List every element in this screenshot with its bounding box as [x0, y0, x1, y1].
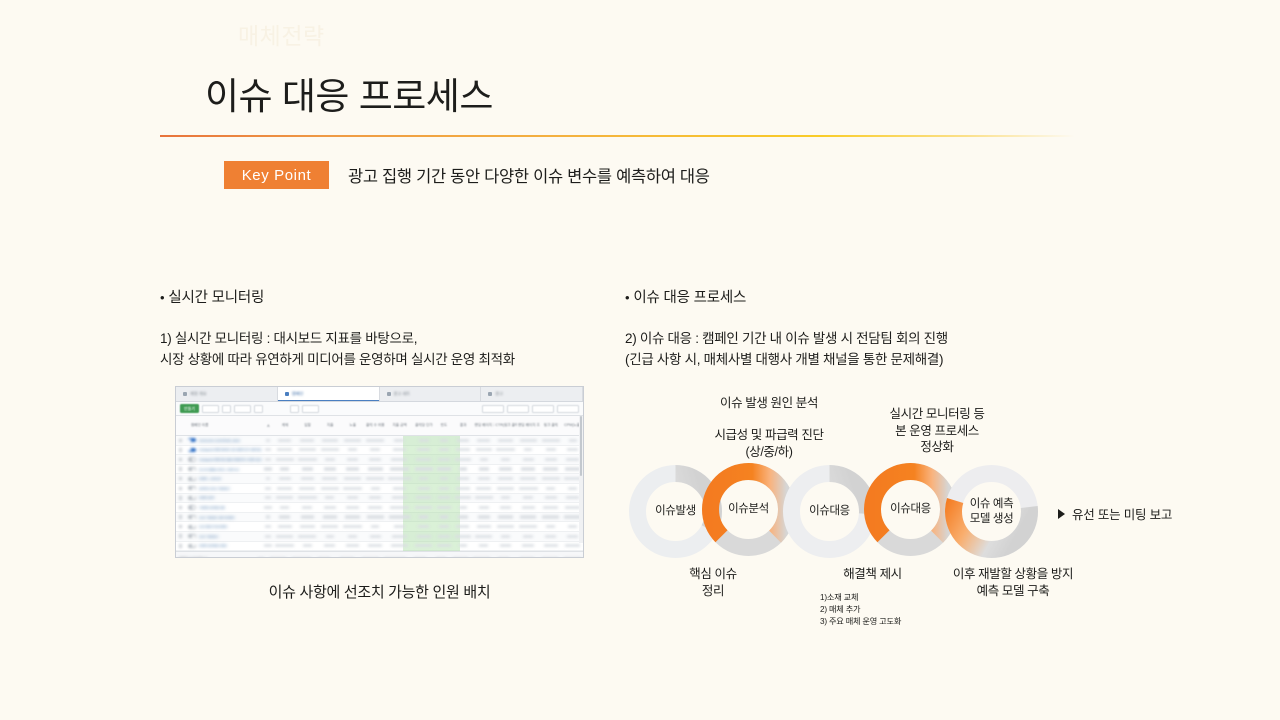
key-point-badge: Key Point — [224, 161, 329, 189]
table-cell — [296, 544, 319, 547]
campaign-name-text: 검색리스트A 기본광고 — [199, 486, 230, 491]
table-cell — [452, 487, 473, 490]
footer-cell — [432, 557, 450, 558]
campaign-name-cell[interactable]: Instagram전환 월고클인전환전자 브랜드광고 전소개용 기... — [185, 457, 263, 462]
left-heading-text: 실시간 모니터링 — [168, 286, 264, 307]
table-cell — [386, 506, 412, 509]
tab-icon — [183, 392, 187, 396]
table-cell — [517, 458, 540, 461]
campaign-name-cell[interactable]: 신규 기본광고 통기브랜드 — [185, 515, 263, 520]
toolbar-delete-button[interactable] — [254, 405, 263, 413]
table-cell — [341, 448, 364, 451]
table-cell — [364, 467, 387, 470]
table-cell — [452, 496, 473, 499]
process-ring-5-label: 이슈 예측 모델 생성 — [944, 464, 1039, 559]
table-cell — [273, 506, 296, 509]
campaign-name-cell[interactable]: 기본형 검색광고용 — [185, 505, 263, 510]
footer-cell — [290, 557, 313, 558]
table-cell — [319, 448, 342, 451]
dashboard-tab-label: 광고 — [495, 391, 503, 397]
table-cell — [517, 535, 540, 538]
row-checkbox[interactable] — [176, 506, 185, 510]
table-cell — [319, 458, 342, 461]
table-cell — [273, 467, 296, 470]
table-row[interactable]: Instagram전환 월고클인전환전자 브랜드광고 전소개용 기... — [176, 455, 583, 465]
footer-cell — [539, 557, 562, 558]
footer-cell — [266, 557, 289, 558]
table-cell — [452, 506, 473, 509]
table-cell — [517, 439, 540, 442]
column-header[interactable]: 지출 금액 — [387, 423, 413, 428]
table-cell — [452, 448, 473, 451]
table-cell — [494, 496, 517, 499]
table-cell — [435, 477, 452, 480]
table-cell — [364, 544, 387, 547]
table-cell — [263, 467, 274, 470]
table-row[interactable]: 기본형 검색광고용 — [176, 503, 583, 513]
campaign-name-cell[interactable]: 브랜드검색광고세트 — [185, 543, 263, 548]
table-cell — [364, 487, 387, 490]
table-cell — [539, 439, 562, 442]
table-cell — [435, 515, 452, 518]
toolbar-icon-button-a[interactable] — [266, 405, 275, 413]
campaign-name-text: 20241004 신규리타겟_0815 — [199, 438, 240, 443]
table-cell — [412, 439, 435, 442]
table-cell — [539, 515, 562, 518]
table-cell — [296, 515, 319, 518]
table-cell — [319, 535, 342, 538]
table-cell — [386, 496, 412, 499]
dashboard-tab-label: 캠페인 — [292, 391, 304, 397]
table-cell — [562, 544, 583, 547]
campaign-name-cell[interactable]: 브랜드검색 — [185, 495, 263, 500]
ring-2-line-1: 이슈분석 — [728, 502, 769, 516]
row-checkbox[interactable] — [176, 496, 185, 500]
table-cell — [412, 477, 435, 480]
bullet-icon: • — [625, 291, 629, 304]
campaign-name-text: 인스타 통합스토리_TMP103 — [199, 467, 240, 472]
table-cell — [273, 477, 296, 480]
table-row[interactable]: Instagram전환 월개인 광고캠프인지 캠프광고 광고 — [176, 446, 583, 456]
table-cell — [263, 544, 274, 547]
campaign-name-text: 브랜드검색 — [199, 495, 215, 500]
table-cell — [296, 496, 319, 499]
table-cell — [364, 458, 387, 461]
table-cell — [386, 448, 412, 451]
table-cell — [273, 525, 296, 528]
table-cell — [494, 525, 517, 528]
table-cell — [452, 525, 473, 528]
table-cell — [341, 487, 364, 490]
table-cell — [273, 439, 296, 442]
table-cell — [517, 467, 540, 470]
table-cell — [473, 535, 494, 538]
left-column-body: 1) 실시간 모니터링 : 대시보드 지표를 바탕으로, 시장 상황에 따라 유… — [160, 329, 515, 370]
status-toggle[interactable] — [188, 544, 196, 548]
triangle-right-icon — [1058, 509, 1065, 519]
table-row[interactable]: 신규 월인기초브랜드 — [176, 522, 583, 532]
table-cell — [473, 544, 494, 547]
campaign-name-cell[interactable]: Instagram전환 월개인 광고캠프인지 캠프광고 광고 — [185, 447, 263, 452]
table-cell — [473, 467, 494, 470]
table-cell — [273, 535, 296, 538]
table-cell — [341, 506, 364, 509]
left-column-heading: • 실시간 모니터링 — [160, 286, 515, 307]
table-cell — [319, 515, 342, 518]
table-cell — [341, 477, 364, 480]
table-cell — [452, 467, 473, 470]
campaign-name-text: 브랜드_100119 — [199, 476, 221, 481]
table-cell — [386, 544, 412, 547]
toolbar-duplicate-button[interactable] — [202, 405, 219, 413]
table-cell — [412, 544, 435, 547]
status-toggle[interactable] — [188, 467, 196, 471]
left-body-line-1: 1) 실시간 모니터링 : 대시보드 지표를 바탕으로, — [160, 329, 515, 350]
table-cell — [263, 535, 274, 538]
table-cell — [386, 477, 412, 480]
campaign-name-cell[interactable]: 브랜드_100119 — [185, 476, 263, 481]
table-row[interactable]: 브랜드검색 — [176, 494, 583, 504]
toolbar-breakdown-select[interactable] — [507, 405, 529, 413]
table-cell — [473, 515, 494, 518]
table-cell — [273, 458, 296, 461]
table-cell — [364, 506, 387, 509]
toolbar-edit-button[interactable] — [222, 405, 231, 413]
table-cell — [435, 439, 452, 442]
footer-cell — [409, 557, 432, 558]
footer-summary-cell: 캠페인 12개 결과 수 — [176, 556, 256, 558]
table-cell — [473, 496, 494, 499]
table-row[interactable]: 검색리스트A 기본광고 — [176, 484, 583, 494]
campaign-name-cell[interactable]: 신규 기본광고 — [185, 534, 263, 539]
table-cell — [517, 487, 540, 490]
table-cell — [412, 448, 435, 451]
footer-cell — [313, 557, 336, 558]
table-cell — [539, 506, 562, 509]
table-row[interactable]: 인스타 통합스토리_TMP103 — [176, 465, 583, 475]
diagram-note-top-2: 시급성 및 파급력 진단(상/중/하) — [688, 427, 850, 460]
table-cell — [494, 506, 517, 509]
tab-icon — [488, 392, 492, 396]
dashboard-column-headers: 캠페인 이름A게재입찰지출노출클릭 수 비용지출 금액클릭당 단가빈도결과랜딩 … — [176, 416, 583, 436]
dashboard-tab-3[interactable]: 광고 — [481, 387, 583, 401]
table-cell — [364, 496, 387, 499]
table-cell — [263, 487, 274, 490]
tab-icon — [387, 392, 391, 396]
status-toggle[interactable] — [188, 496, 196, 500]
table-cell — [341, 467, 364, 470]
table-cell — [452, 458, 473, 461]
slide-root: 매체전략 이슈 대응 프로세스 Key Point 광고 집행 기간 동안 다양… — [0, 0, 1280, 720]
table-cell — [319, 477, 342, 480]
table-cell — [341, 535, 364, 538]
table-row[interactable]: 브랜드검색광고세트 — [176, 542, 583, 552]
column-header[interactable]: 게재 — [274, 423, 297, 428]
status-toggle[interactable] — [188, 534, 196, 538]
table-cell — [473, 525, 494, 528]
left-body-line-2: 시장 상황에 따라 유연하게 미디어를 운영하며 실시간 운영 최적화 — [160, 350, 515, 371]
footer-cell — [382, 557, 409, 558]
right-body-line-2: (긴급 사항 시, 매체사별 대행사 개별 채널을 통한 문제해결) — [625, 350, 948, 371]
table-cell — [364, 477, 387, 480]
table-cell — [386, 458, 412, 461]
outcome-callout: 유선 또는 미팅 보고 — [1058, 504, 1172, 523]
table-cell — [263, 525, 274, 528]
dashboard-tab-bar: 계정 개요캠페인광고 세트광고 — [176, 387, 583, 402]
table-cell — [452, 439, 473, 442]
row-checkbox[interactable] — [176, 487, 185, 491]
table-cell — [296, 448, 319, 451]
key-point-row: Key Point 광고 집행 기간 동안 다양한 이슈 변수를 예측하여 대응 — [224, 161, 710, 189]
table-cell — [412, 506, 435, 509]
table-cell — [386, 535, 412, 538]
table-row[interactable]: 브랜드_100119 — [176, 474, 583, 484]
table-cell — [263, 439, 274, 442]
table-row[interactable]: 신규 기본광고 — [176, 532, 583, 542]
toolbar-search-input[interactable] — [302, 405, 319, 413]
diagram-note-bottom-1: 핵심 이슈정리 — [620, 566, 806, 599]
table-cell — [273, 496, 296, 499]
table-cell — [435, 544, 452, 547]
table-cell — [296, 439, 319, 442]
table-cell — [539, 525, 562, 528]
table-cell — [539, 535, 562, 538]
outcome-label: 유선 또는 미팅 보고 — [1072, 504, 1172, 523]
campaign-name-text: Instagram전환 월개인 광고캠프인지 캠프광고 광고 — [199, 447, 262, 452]
table-cell — [473, 487, 494, 490]
toolbar-reports-select[interactable] — [557, 405, 579, 413]
table-cell — [435, 535, 452, 538]
table-cell — [319, 496, 342, 499]
table-cell — [296, 458, 319, 461]
row-checkbox[interactable] — [176, 448, 185, 452]
footer-cell — [256, 557, 267, 558]
table-cell — [263, 506, 274, 509]
campaign-name-text: 브랜드검색광고세트 — [199, 543, 227, 548]
table-cell — [494, 535, 517, 538]
column-header[interactable]: 지출 — [319, 423, 342, 428]
table-cell — [494, 487, 517, 490]
status-toggle[interactable] — [188, 438, 196, 442]
table-cell — [296, 487, 319, 490]
footer-cell — [359, 557, 382, 558]
dashboard-tab-label: 계정 개요 — [190, 391, 207, 397]
campaign-name-text: 신규 월인기초브랜드 — [199, 524, 228, 529]
table-cell — [386, 487, 412, 490]
right-body-line-1: 2) 이슈 대응 : 캠페인 기간 내 이슈 발생 시 전담팀 회의 진행 — [625, 329, 948, 350]
table-cell — [473, 439, 494, 442]
table-cell — [473, 477, 494, 480]
right-heading-text: 이슈 대응 프로세스 — [633, 286, 746, 307]
table-cell — [517, 515, 540, 518]
table-row[interactable]: 신규 기본광고 통기브랜드 — [176, 513, 583, 523]
table-cell — [539, 477, 562, 480]
title-divider — [160, 135, 1075, 137]
table-cell — [452, 544, 473, 547]
table-cell — [517, 496, 540, 499]
table-cell — [412, 515, 435, 518]
status-toggle[interactable] — [188, 515, 196, 519]
table-cell — [517, 544, 540, 547]
status-toggle[interactable] — [188, 525, 196, 529]
table-cell — [473, 448, 494, 451]
table-cell — [341, 525, 364, 528]
vertical-scrollbar[interactable] — [579, 416, 583, 543]
table-cell — [341, 515, 364, 518]
status-toggle[interactable] — [188, 477, 196, 481]
table-cell — [319, 544, 342, 547]
table-cell — [296, 467, 319, 470]
create-button[interactable]: 만들기 — [180, 404, 199, 413]
table-cell — [435, 448, 452, 451]
column-header[interactable]: 링크 클릭 — [540, 423, 563, 428]
toolbar-more-button[interactable] — [234, 405, 251, 413]
table-cell — [319, 506, 342, 509]
column-header[interactable]: 클릭 수 비용 — [364, 423, 387, 428]
table-cell — [319, 467, 342, 470]
dashboard-tab-1[interactable]: 캠페인 — [278, 387, 380, 401]
table-cell — [386, 515, 412, 518]
ring-4-line-1: 이슈대응 — [890, 502, 931, 516]
row-checkbox[interactable] — [176, 477, 185, 481]
dashboard-tab-label: 광고 세트 — [394, 391, 411, 397]
solution-sublist: 1)소재 교체2) 매체 추가3) 주요 매체 운영 고도화 — [820, 592, 901, 628]
row-checkbox[interactable] — [176, 544, 185, 548]
footer-summary-text: 캠페인 12개 결과 수 — [179, 556, 207, 558]
table-row[interactable]: 20241004 신규리타겟_0815 — [176, 436, 583, 446]
table-cell — [296, 506, 319, 509]
column-header[interactable]: CTR(링크 클릭률) — [494, 423, 517, 428]
column-header[interactable]: 랜딩 페이지 조회당 비용 — [517, 423, 540, 428]
table-cell — [364, 515, 387, 518]
row-checkbox[interactable] — [176, 534, 185, 538]
table-cell — [452, 535, 473, 538]
campaign-name-cell[interactable]: 인스타 통합스토리_TMP103 — [185, 467, 263, 472]
status-toggle[interactable] — [188, 457, 196, 461]
column-header[interactable]: 노출 — [341, 423, 364, 428]
dashboard-tab-2[interactable]: 광고 세트 — [380, 387, 482, 401]
table-cell — [364, 439, 387, 442]
column-header[interactable]: 클릭당 단가 — [413, 423, 436, 428]
table-cell — [263, 515, 274, 518]
table-cell — [273, 487, 296, 490]
table-cell — [435, 506, 452, 509]
table-cell — [539, 496, 562, 499]
dashboard-caption: 이슈 사항에 선조치 가능한 인원 배치 — [175, 581, 584, 602]
process-ring-5[interactable]: 이슈 예측 모델 생성 — [944, 464, 1039, 559]
toolbar-icon-button-b[interactable] — [278, 405, 287, 413]
table-cell — [263, 496, 274, 499]
table-cell — [273, 448, 296, 451]
table-cell — [364, 535, 387, 538]
table-cell — [452, 515, 473, 518]
table-cell — [273, 544, 296, 547]
dashboard-toolbar: 만들기 — [176, 402, 583, 416]
toolbar-export-button[interactable] — [290, 405, 299, 413]
table-cell — [494, 458, 517, 461]
ring-5-line-2: 모델 생성 — [970, 512, 1014, 526]
status-toggle[interactable] — [188, 486, 196, 490]
row-checkbox[interactable] — [176, 525, 185, 529]
dashboard-table-body: 20241004 신규리타겟_0815Instagram전환 월개인 광고캠프인… — [176, 436, 583, 551]
dashboard-screenshot: 계정 개요캠페인광고 세트광고 만들기 캠페인 이름A게재입찰지출노출클릭 수 … — [175, 386, 584, 558]
table-cell — [435, 487, 452, 490]
table-cell — [341, 439, 364, 442]
table-cell — [341, 458, 364, 461]
table-cell — [452, 477, 473, 480]
table-cell — [435, 467, 452, 470]
table-cell — [539, 458, 562, 461]
toolbar-toggle-columns[interactable] — [482, 405, 504, 413]
footer-cell — [450, 557, 471, 558]
table-cell — [539, 467, 562, 470]
table-cell — [494, 477, 517, 480]
campaign-name-cell[interactable]: 검색리스트A 기본광고 — [185, 486, 263, 491]
table-cell — [364, 525, 387, 528]
table-cell — [296, 525, 319, 528]
column-header[interactable]: 캠페인 이름 — [185, 423, 263, 428]
diagram-note-top-1: 이슈 발생 원인 분석 — [688, 395, 850, 412]
table-cell — [412, 525, 435, 528]
campaign-name-text: 기본형 검색광고용 — [199, 505, 225, 510]
row-checkbox[interactable] — [176, 458, 185, 462]
table-cell — [319, 525, 342, 528]
table-cell — [386, 467, 412, 470]
diagram-note-top-3: 실시간 모니터링 등본 운영 프로세스정상화 — [862, 406, 1012, 456]
status-toggle[interactable] — [188, 448, 196, 452]
table-cell — [273, 515, 296, 518]
table-cell — [263, 448, 274, 451]
table-cell — [435, 496, 452, 499]
table-cell — [296, 535, 319, 538]
column-header[interactable]: 빈도 — [435, 423, 452, 428]
page-title: 이슈 대응 프로세스 — [205, 66, 493, 120]
table-cell — [473, 506, 494, 509]
table-cell — [386, 525, 412, 528]
bullet-icon: • — [160, 291, 164, 304]
campaign-name-text: 신규 기본광고 통기브랜드 — [199, 515, 235, 520]
table-cell — [412, 535, 435, 538]
row-checkbox[interactable] — [176, 467, 185, 471]
row-checkbox[interactable] — [176, 439, 185, 443]
table-cell — [435, 458, 452, 461]
table-cell — [517, 525, 540, 528]
left-column: • 실시간 모니터링 1) 실시간 모니터링 : 대시보드 지표를 바탕으로, … — [160, 286, 515, 370]
campaign-name-cell[interactable]: 20241004 신규리타겟_0815 — [185, 438, 263, 443]
footer-cell — [515, 557, 538, 558]
ring-3-line-1: 이슈대응 — [809, 504, 850, 518]
table-cell — [494, 448, 517, 451]
table-cell — [296, 477, 319, 480]
campaign-name-cell[interactable]: 신규 월인기초브랜드 — [185, 524, 263, 529]
status-toggle[interactable] — [188, 505, 196, 509]
table-cell — [263, 477, 274, 480]
table-cell — [494, 515, 517, 518]
dashboard-footer-summary: 캠페인 12개 결과 수 — [176, 551, 583, 558]
toolbar-columns-select[interactable] — [532, 405, 554, 413]
row-checkbox[interactable] — [176, 515, 185, 519]
table-cell — [412, 496, 435, 499]
column-header[interactable]: 결과 — [453, 423, 474, 428]
column-header[interactable]: A — [263, 424, 274, 428]
table-cell — [539, 448, 562, 451]
table-cell — [435, 525, 452, 528]
table-cell — [263, 458, 274, 461]
column-header[interactable]: 랜딩 페이지 조회 — [474, 423, 495, 428]
column-header[interactable]: 입찰 — [296, 423, 319, 428]
ring-5-line-1: 이슈 예측 — [970, 497, 1014, 511]
dashboard-tab-0[interactable]: 계정 개요 — [176, 387, 278, 401]
